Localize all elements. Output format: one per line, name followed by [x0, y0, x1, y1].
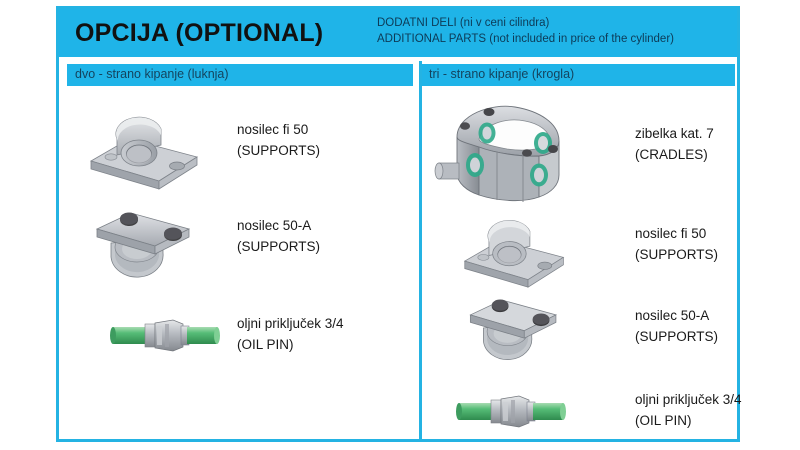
column-divider [419, 61, 422, 439]
caption-si: nosilec fi 50 [237, 119, 320, 140]
header-note-line-en: ADDITIONAL PARTS (not included in price … [377, 31, 733, 47]
list-item-caption: nosilec 50-A (SUPPORTS) [237, 215, 320, 257]
header-note-line-si: DODATNI DELI (ni v ceni cilindra) [377, 15, 733, 31]
caption-en: (SUPPORTS) [635, 244, 718, 265]
list-item-caption: zibelka kat. 7 (CRADLES) [635, 123, 714, 165]
column-header-left: dvo - strano kipanje (luknja) [67, 64, 413, 86]
caption-en: (OIL PIN) [237, 334, 344, 355]
caption-en: (SUPPORTS) [237, 236, 320, 257]
list-item-caption: nosilec fi 50 (SUPPORTS) [237, 119, 320, 161]
oil-pin-icon [457, 381, 567, 441]
header-band: OPCIJA (OPTIONAL) DODATNI DELI (ni v cen… [59, 9, 737, 57]
caption-si: oljni priključek 3/4 [237, 313, 344, 334]
option-parts-slide: OPCIJA (OPTIONAL) DODATNI DELI (ni v cen… [56, 6, 740, 442]
cradle-ring-icon [435, 97, 575, 213]
caption-en: (CRADLES) [635, 144, 714, 165]
clamp-bracket-icon [85, 199, 205, 285]
page-title: OPCIJA (OPTIONAL) [75, 19, 323, 48]
caption-si: nosilec fi 50 [635, 223, 718, 244]
column-header-left-label: dvo - strano kipanje (luknja) [75, 67, 229, 81]
support-bracket-icon [455, 209, 575, 289]
list-item-caption: nosilec 50-A (SUPPORTS) [635, 305, 718, 347]
caption-en: (SUPPORTS) [635, 326, 718, 347]
clamp-bracket-icon [455, 287, 575, 367]
caption-si: zibelka kat. 7 [635, 123, 714, 144]
oil-pin-icon [111, 305, 221, 365]
list-item-caption: nosilec fi 50 (SUPPORTS) [635, 223, 718, 265]
caption-si: nosilec 50-A [237, 215, 320, 236]
caption-si: nosilec 50-A [635, 305, 718, 326]
caption-en: (OIL PIN) [635, 410, 742, 431]
caption-en: (SUPPORTS) [237, 140, 320, 161]
list-item-caption: oljni priključek 3/4 (OIL PIN) [237, 313, 344, 355]
header-note: DODATNI DELI (ni v ceni cilindra) ADDITI… [377, 15, 733, 47]
list-item-caption: oljni priključek 3/4 (OIL PIN) [635, 389, 742, 431]
column-header-right-label: tri - strano kipanje (krogla) [429, 67, 574, 81]
support-bracket-icon [85, 105, 205, 191]
caption-si: oljni priključek 3/4 [635, 389, 742, 410]
column-header-right: tri - strano kipanje (krogla) [421, 64, 735, 86]
